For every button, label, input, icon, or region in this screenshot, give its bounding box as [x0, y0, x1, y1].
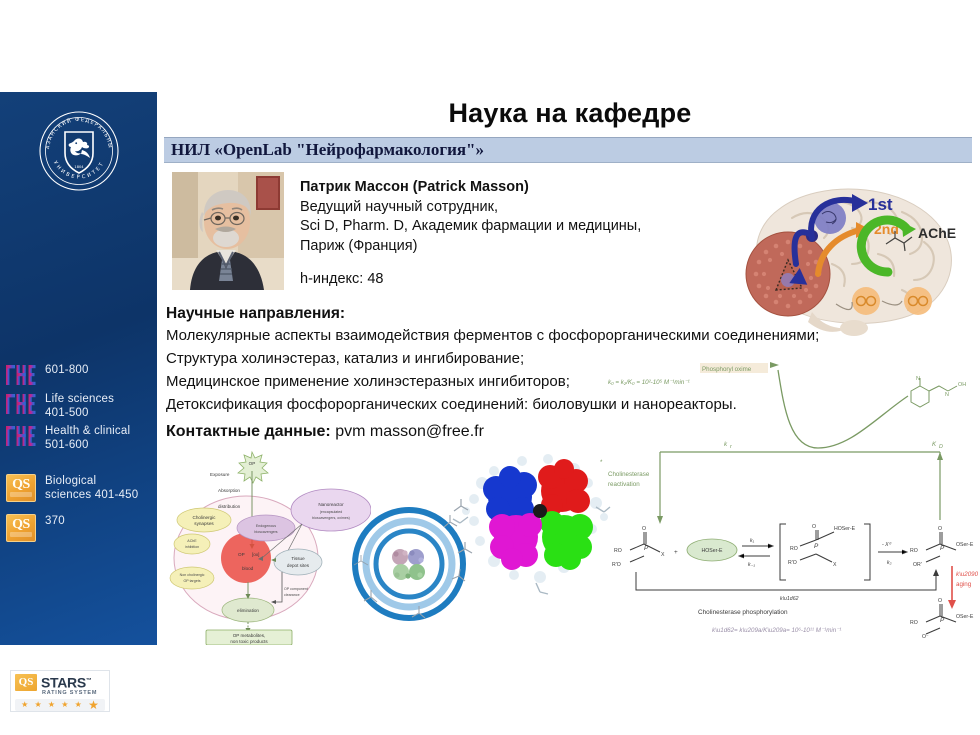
chem-label-k1: k₁	[750, 538, 755, 544]
pk-node-op-blood: OP	[238, 552, 245, 557]
svg-text:clearance: clearance	[284, 593, 300, 597]
pk-node-absorption: Absorption	[218, 488, 240, 493]
chem-label-hoser-e: HOSer-E	[701, 548, 723, 554]
svg-text:O⁻: O⁻	[922, 634, 929, 640]
svg-text:OSer-E: OSer-E	[956, 614, 974, 620]
star-icon-highlight: ★	[88, 701, 99, 709]
ranking-label: 601-800	[36, 362, 89, 377]
openlab-header-bar: НИЛ «OpenLab "Нейрофармакология"»	[164, 137, 972, 163]
svg-text:P: P	[814, 543, 819, 550]
pk-node-cholinergic: Cholinergic	[193, 515, 217, 520]
ranking-item-the-health-clinical: Health & clinical 501-600	[0, 423, 157, 452]
chem-label-oser-e: OSer-E	[956, 542, 974, 548]
chem-label-kd: K	[932, 441, 937, 448]
svg-text:P: P	[940, 617, 945, 624]
svg-text:1804: 1804	[74, 165, 84, 169]
chem-atom-n2: N	[945, 392, 949, 398]
ranking-line1: Health & clinical	[45, 425, 130, 437]
kazan-federal-university-logo: КАЗАНСКИЙ ФЕДЕРАЛЬНЫЙ УНИВЕРСИТЕТ 1804	[38, 110, 120, 192]
chem-label-k-1: k₋₁	[748, 562, 755, 568]
svg-text:RO: RO	[614, 548, 622, 554]
pk-node-op: OP	[249, 461, 256, 466]
openlab-label: НИЛ «OpenLab "Нейрофармакология"»	[171, 140, 484, 160]
chem-atom-n: N	[916, 376, 920, 382]
person-city: Париж (Франция)	[300, 237, 740, 257]
svg-text:blood: blood	[242, 566, 254, 571]
chem-rate-top: k₀ = k₂/K₀ = 10²-10⁵ M⁻¹min⁻¹	[608, 379, 690, 386]
ranking-item-the-life-sciences: Life sciences 401-500	[0, 391, 157, 420]
contact-label: Контактные данные:	[166, 423, 331, 440]
pk-node-ache-inhibition: AChE	[187, 539, 197, 543]
ranking-label: Health & clinical 501-600	[36, 423, 130, 452]
ranking-line1: Life sciences	[45, 393, 114, 405]
contact-email[interactable]: pvm masson@free.fr	[335, 423, 484, 440]
qs-stars-badge: QS STARS™ RATING SYSTEM ★ ★ ★ ★ ★ ★	[10, 670, 110, 712]
svg-text:O: O	[938, 598, 942, 604]
pk-node-non-cholinergic: Non cholinergic	[180, 573, 205, 577]
ranking-line1: 601-800	[45, 364, 89, 376]
star-icon: ★	[35, 701, 42, 709]
svg-text:+: +	[674, 549, 678, 556]
svg-text:R'O: R'O	[788, 560, 797, 566]
pk-node-tissue-depot: Tissue	[291, 556, 305, 561]
brain-ache-diagram: 1st 2nd AChE	[726, 168, 976, 343]
page-title: Наука на кафедре	[165, 98, 975, 129]
star-icon: ★	[21, 701, 28, 709]
svg-text:P: P	[940, 545, 945, 552]
chem-rate-bottom: k\u1d62= k\u209a/K\u209a= 10⁶-10¹¹ M⁻¹mi…	[712, 627, 841, 634]
svg-text:O: O	[812, 524, 816, 530]
ranking-line1: Biological	[45, 475, 96, 487]
svg-text:X: X	[661, 552, 665, 558]
star-icon: ★	[61, 701, 68, 709]
brain-label-1st: 1st	[868, 195, 893, 214]
pk-node-clearance: OP component	[284, 587, 308, 591]
op-pharmacokinetics-diagram: .pkt{font-family:"Liberation Sans",sans-…	[166, 440, 371, 645]
cholinesterase-tetramer-structure	[452, 445, 612, 605]
pk-node-metabolites: OP metabolites,	[233, 633, 266, 638]
svg-text:non toxic products: non toxic products	[230, 639, 268, 644]
chem-label-kr: k	[724, 441, 728, 448]
ranking-line2: 401-500	[45, 406, 114, 420]
svg-text:X: X	[833, 562, 837, 568]
svg-text:bioscavengers, oximes): bioscavengers, oximes)	[312, 516, 350, 520]
patrick-masson-portrait	[172, 172, 284, 290]
person-info: Патрик Массон (Patrick Masson) Ведущий н…	[300, 178, 740, 290]
contact-line: Контактные данные: pvm masson@free.fr	[166, 423, 484, 441]
svg-text:D: D	[939, 444, 943, 450]
star-icon: ★	[75, 701, 82, 709]
svg-text:(encapsulated: (encapsulated	[320, 510, 343, 514]
svg-text:P: P	[644, 545, 649, 552]
qs-stars-subtitle: RATING SYSTEM	[42, 690, 105, 696]
times-higher-education-logo	[6, 392, 36, 416]
qs-stars-word: STARS™	[41, 674, 92, 691]
person-position: Ведущий научный сотрудник,	[300, 198, 740, 218]
svg-text:r: r	[730, 444, 732, 450]
svg-text:depot sites: depot sites	[287, 563, 310, 568]
chem-label-ka: k\u2090	[956, 571, 979, 578]
chem-label-hoser-e-ts: HOSer-E	[834, 526, 856, 532]
chem-label-aging: aging	[956, 581, 972, 588]
pk-node-exposure: Exposure	[210, 472, 230, 477]
chem-label-phosphoryl-oxime: Phosphoryl oxime	[702, 366, 752, 373]
pk-node-distribution: distribution	[218, 504, 241, 509]
svg-text:RO: RO	[790, 546, 798, 552]
qs-stars-rating-row: ★ ★ ★ ★ ★ ★	[15, 699, 105, 711]
sidebar: КАЗАНСКИЙ ФЕДЕРАЛЬНЫЙ УНИВЕРСИТЕТ 1804	[0, 92, 157, 645]
svg-text:O: O	[642, 526, 646, 532]
pk-node-elimination: elimination	[237, 608, 259, 613]
ranking-item-the-overall: 601-800	[0, 362, 157, 388]
ranking-item-qs-overall: QS 370	[0, 513, 157, 542]
ranking-line2: 501-600	[45, 438, 130, 452]
pk-node-nanoreactor: Nanoreactor	[318, 502, 344, 507]
chem-label-phosphorylation: Cholinesterase phosphorylation	[698, 609, 788, 616]
person-degrees: Sci D, Pharm. D, Академик фармации и мед…	[300, 217, 740, 237]
slide-root: КАЗАНСКИЙ ФЕДЕРАЛЬНЫЙ УНИВЕРСИТЕТ 1804	[0, 0, 980, 735]
chem-label-reactivation: Cholinesterase	[608, 471, 650, 478]
svg-text:OR': OR'	[913, 562, 922, 568]
svg-text:RO: RO	[910, 620, 918, 626]
ranking-line1: 370	[45, 515, 65, 527]
chem-atom-oh: OH	[958, 382, 966, 388]
person-name: Патрик Массон (Patrick Masson)	[300, 178, 740, 198]
qs-stars-mark: QS	[15, 674, 37, 691]
cholinesterase-phosphorylation-scheme: k₀ = k₂/K₀ = 10²-10⁵ M⁻¹min⁻¹ Phosphoryl…	[600, 360, 980, 640]
chem-label-ki: k\u1d62	[780, 596, 799, 602]
svg-text:bioscavengers: bioscavengers	[254, 530, 277, 534]
chem-label-reactivation2: reactivation	[608, 481, 640, 488]
times-higher-education-logo	[6, 424, 36, 448]
svg-text:R'O: R'O	[612, 562, 621, 568]
brain-label-ache: AChE	[918, 225, 956, 241]
ranking-line2: sciences 401-450	[45, 488, 138, 502]
qs-logo: QS	[6, 474, 36, 502]
times-higher-education-logo	[6, 363, 36, 387]
svg-text:OP targets: OP targets	[183, 579, 200, 583]
rankings-list: 601-800 Life sciences	[0, 362, 157, 545]
pk-node-endogenous: Endogenous	[256, 524, 276, 528]
svg-text:O: O	[938, 526, 942, 532]
chem-label-minus-x: - X⁰	[882, 542, 892, 548]
svg-text:*: *	[600, 459, 603, 466]
svg-text:[ox]: [ox]	[252, 552, 259, 557]
ranking-label: 370	[36, 513, 65, 528]
ranking-label: Life sciences 401-500	[36, 391, 114, 420]
liposome-nanoreactor-diagram	[352, 505, 467, 623]
qs-logo: QS	[6, 514, 36, 542]
star-icon: ★	[48, 701, 55, 709]
ranking-label: Biological sciences 401-450	[36, 473, 138, 502]
svg-text:synapses: synapses	[194, 521, 214, 526]
svg-text:inhibition: inhibition	[185, 545, 199, 549]
person-h-index: h-индекс: 48	[300, 270, 740, 290]
svg-text:RO: RO	[910, 548, 918, 554]
ranking-item-qs-biological-sciences: QS Biological sciences 401-450	[0, 473, 157, 502]
chem-label-kp: k₂	[887, 560, 892, 566]
